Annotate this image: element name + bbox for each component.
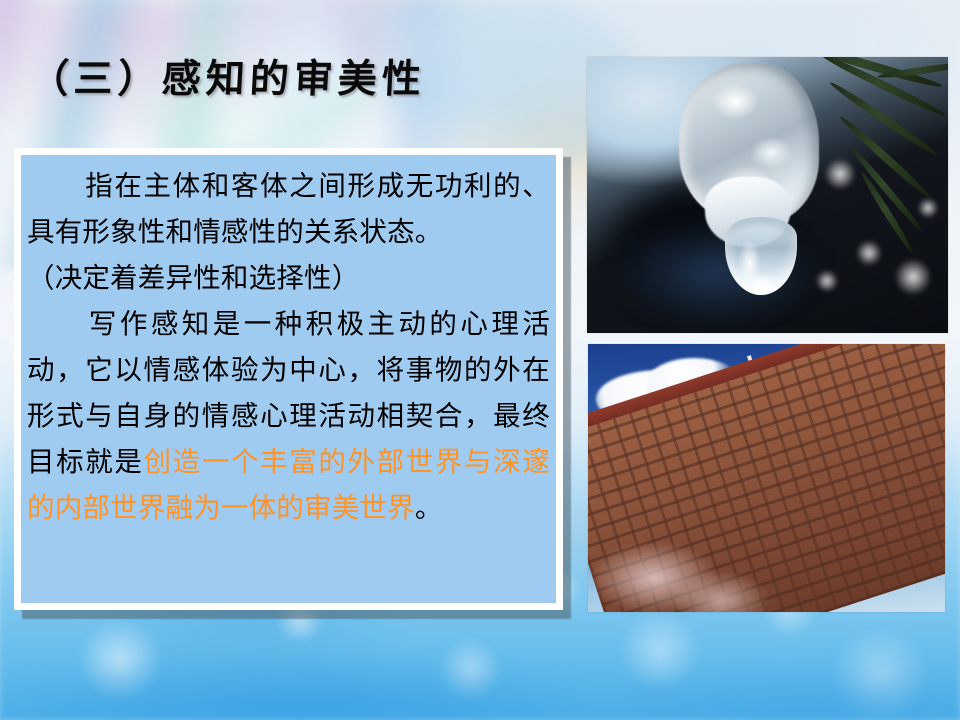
content-textbox: 指在主体和客体之间形成无功利的、具有形象性和情感性的关系状态。 （决定着差异性和… <box>14 148 563 610</box>
paragraph-1-run-1: 指在主体和客体之间形成无功利的、具有形象性和情感性的关系状态。 <box>27 170 550 248</box>
page-title: （三）感知的审美性 <box>29 48 428 104</box>
droplet-highlight <box>739 269 783 299</box>
paragraph-2: （决定着差异性和选择性） <box>27 255 550 301</box>
bokeh-glow <box>823 157 857 191</box>
tibetan-rooftop-photo <box>588 344 945 612</box>
paragraph-2-run-1: （决定着差异性和选择性） <box>27 262 359 294</box>
ice-droplet-photo <box>587 57 948 333</box>
bokeh-glow <box>893 257 933 297</box>
paragraph-1: 指在主体和客体之间形成无功利的、具有形象性和情感性的关系状态。 <box>27 163 550 255</box>
paragraph-3-run-3: 。 <box>415 492 443 524</box>
bokeh-glow <box>855 239 883 267</box>
paragraph-3: 写作感知是一种积极主动的心理活动，它以情感体验为中心，将事物的外在形式与自身的情… <box>27 301 550 531</box>
foreground-brush <box>588 512 768 612</box>
textbox-frame: 指在主体和客体之间形成无功利的、具有形象性和情感性的关系状态。 （决定着差异性和… <box>14 148 563 610</box>
textbox-body: 指在主体和客体之间形成无功利的、具有形象性和情感性的关系状态。 （决定着差异性和… <box>21 155 556 603</box>
slide-canvas: （三）感知的审美性 指在主体和客体之间形成无功利的、具有形象性和情感性的关系状态… <box>0 0 960 720</box>
bokeh-glow <box>917 197 939 219</box>
bokeh-glow <box>815 269 839 293</box>
